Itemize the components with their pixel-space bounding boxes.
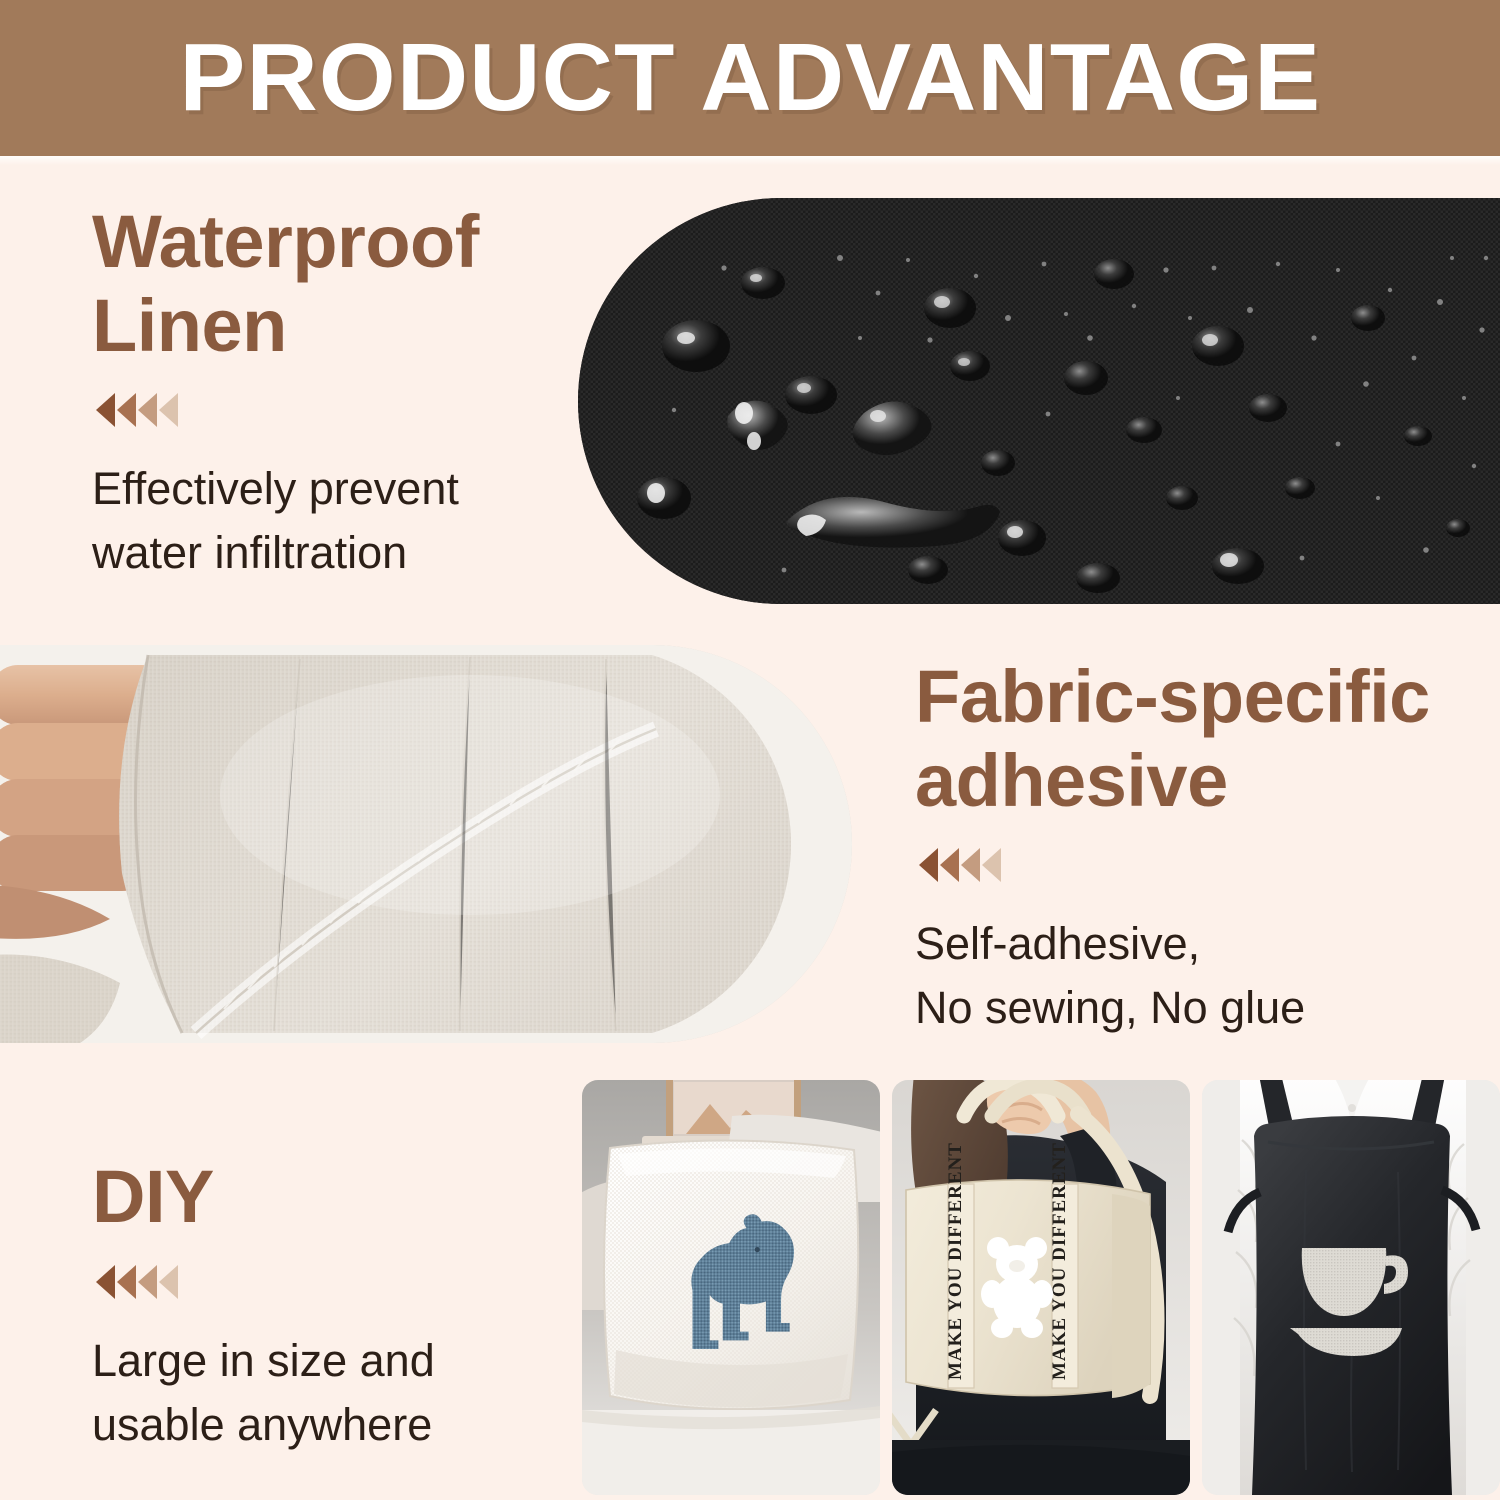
feature-heading-adhesive: Fabric-specific adhesive bbox=[915, 655, 1485, 822]
chevron-divider-waterproof bbox=[96, 393, 562, 427]
chevron-divider-diy bbox=[96, 1265, 562, 1299]
body-line-1: Large in size and bbox=[92, 1335, 435, 1386]
header-banner: PRODUCT ADVANTAGE bbox=[0, 0, 1500, 156]
chevron-left-icon-2 bbox=[117, 393, 136, 427]
heading-line-2: Linen bbox=[92, 284, 287, 367]
heading-line-1: Fabric-specific bbox=[915, 655, 1430, 738]
body-line-2: usable anywhere bbox=[92, 1399, 432, 1450]
chevron-left-icon-4 bbox=[159, 393, 178, 427]
gallery-photo-pillow bbox=[582, 1080, 880, 1495]
tote-bag-illustration: MAKE YOU DIFFERENT MAKE YOU DIFFERENT bbox=[892, 1080, 1190, 1495]
water-droplets-illustration bbox=[578, 198, 1500, 604]
tote-strap-text-left: MAKE YOU DIFFERENT bbox=[945, 1142, 966, 1380]
chevron-left-icon-3 bbox=[138, 393, 157, 427]
body-line-1: Self-adhesive, bbox=[915, 918, 1200, 969]
heading-line-1: DIY bbox=[92, 1155, 214, 1238]
gallery-photo-tote-bag: MAKE YOU DIFFERENT MAKE YOU DIFFERENT bbox=[892, 1080, 1190, 1495]
feature-block-waterproof: Waterproof Linen Effectively prevent wat… bbox=[92, 200, 562, 585]
feature-body-adhesive: Self-adhesive, No sewing, No glue bbox=[915, 912, 1485, 1040]
heading-line-2: adhesive bbox=[915, 739, 1228, 822]
header-divider bbox=[0, 156, 1500, 165]
chevron-left-icon-3 bbox=[961, 848, 980, 882]
photo-waterproof-fabric bbox=[578, 198, 1500, 604]
photo-linen-fabric bbox=[0, 645, 852, 1043]
chevron-left-icon-1 bbox=[919, 848, 938, 882]
body-line-2: water infiltration bbox=[92, 527, 407, 578]
chevron-left-icon-1 bbox=[96, 393, 115, 427]
feature-body-waterproof: Effectively prevent water infiltration bbox=[92, 457, 562, 585]
chevron-left-icon-1 bbox=[96, 1265, 115, 1299]
linen-fabric-illustration bbox=[0, 645, 852, 1043]
heading-line-1: Waterproof bbox=[92, 200, 479, 283]
body-line-1: Effectively prevent bbox=[92, 463, 459, 514]
chevron-divider-adhesive bbox=[919, 848, 1485, 882]
chevron-left-icon-2 bbox=[117, 1265, 136, 1299]
chevron-left-icon-3 bbox=[138, 1265, 157, 1299]
feature-block-adhesive: Fabric-specific adhesive Self-adhesive, … bbox=[915, 655, 1485, 1040]
tote-strap-text-right: MAKE YOU DIFFERENT bbox=[1049, 1142, 1070, 1380]
chevron-left-icon-4 bbox=[982, 848, 1001, 882]
gallery-row: MAKE YOU DIFFERENT MAKE YOU DIFFERENT bbox=[582, 1080, 1500, 1495]
body-line-2: No sewing, No glue bbox=[915, 982, 1305, 1033]
gallery-photo-apron bbox=[1202, 1080, 1500, 1495]
feature-body-diy: Large in size and usable anywhere bbox=[92, 1329, 562, 1457]
feature-heading-diy: DIY bbox=[92, 1155, 562, 1239]
chevron-left-icon-4 bbox=[159, 1265, 178, 1299]
feature-heading-waterproof: Waterproof Linen bbox=[92, 200, 562, 367]
apron-illustration bbox=[1202, 1080, 1500, 1495]
page-title: PRODUCT ADVANTAGE bbox=[179, 30, 1321, 126]
chevron-left-icon-2 bbox=[940, 848, 959, 882]
feature-block-diy: DIY Large in size and usable anywhere bbox=[92, 1155, 562, 1456]
pillow-illustration bbox=[582, 1080, 880, 1495]
